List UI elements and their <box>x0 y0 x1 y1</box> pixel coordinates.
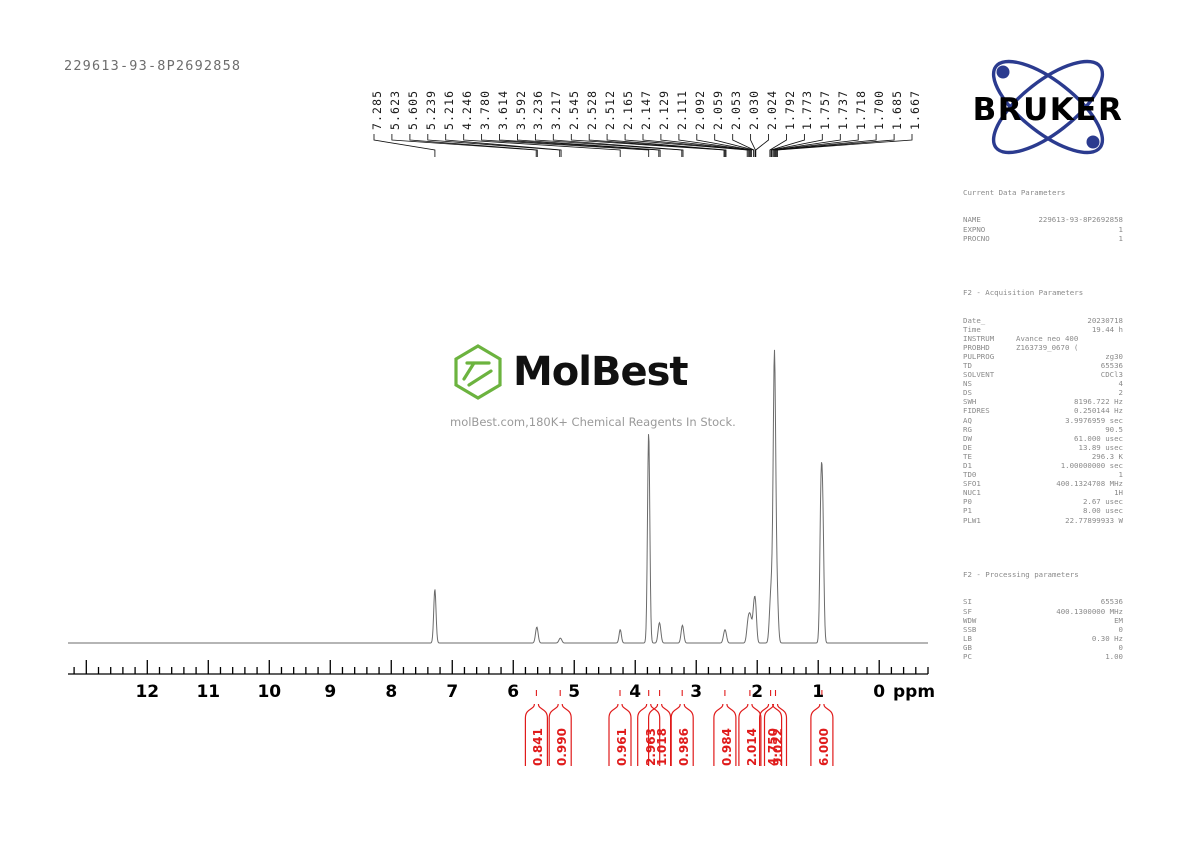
param-value: 0 <box>1119 643 1123 652</box>
param-value: 4 <box>1119 379 1123 388</box>
integral-value-label: 6.000 <box>817 728 831 766</box>
param-key: TE <box>963 452 972 461</box>
param-section-title-current: Current Data Parameters <box>963 188 1123 197</box>
param-row: Time19.44 h <box>963 325 1123 334</box>
param-value: 2 <box>1119 388 1123 397</box>
param-key: WDW <box>963 616 976 625</box>
param-row: PLW122.77899933 W <box>963 516 1123 525</box>
integral-value-label: 0.990 <box>555 728 569 766</box>
param-key: NS <box>963 379 972 388</box>
peak-label-strip: 7.2855.6235.6055.2395.2164.2463.7803.614… <box>0 0 1190 180</box>
param-value: 400.1300000 MHz <box>1056 607 1123 616</box>
param-key: PROCNO <box>963 234 990 243</box>
param-key: D1 <box>963 461 972 470</box>
peak-label: 2.528 <box>585 90 599 130</box>
peak-label: 1.685 <box>890 90 904 130</box>
param-row: GB0 <box>963 643 1123 652</box>
param-key: NUC1 <box>963 488 981 497</box>
peak-label: 5.239 <box>424 90 438 130</box>
param-value: 1 <box>1119 470 1123 479</box>
param-value: zg30 <box>1105 352 1123 361</box>
axis-tick-label: 0 <box>873 682 885 702</box>
param-row: SF400.1300000 MHz <box>963 607 1123 616</box>
axis-tick-label: 6 <box>507 682 519 702</box>
param-value: EM <box>1114 616 1123 625</box>
param-value: 1 <box>1119 234 1123 243</box>
integral-value-label: 0.961 <box>615 728 629 766</box>
axis-tick-label: 10 <box>257 682 281 702</box>
axis-tick-label: 11 <box>196 682 220 702</box>
param-value: 3.9976959 sec <box>1065 416 1123 425</box>
peak-label: 1.773 <box>800 90 814 130</box>
peak-label: 3.780 <box>478 90 492 130</box>
axis-ruler <box>0 660 1190 680</box>
param-value: 8196.722 Hz <box>1074 397 1123 406</box>
param-row: SI65536 <box>963 597 1123 606</box>
param-list-acquisition: Date_20230718Time19.44 hINSTRUMAvance ne… <box>963 316 1123 525</box>
param-key: P0 <box>963 497 972 506</box>
param-row: TD01 <box>963 470 1123 479</box>
param-row: Date_20230718 <box>963 316 1123 325</box>
peak-label: 2.024 <box>765 90 779 130</box>
peak-label: 2.545 <box>567 90 581 130</box>
param-value: 0 <box>1119 625 1123 634</box>
param-row: AQ3.9976959 sec <box>963 416 1123 425</box>
integral-value-label: 2.014 <box>745 728 759 766</box>
param-row: P02.67 usec <box>963 497 1123 506</box>
peak-label: 2.165 <box>621 90 635 130</box>
param-key: EXPNO <box>963 225 985 234</box>
peak-label: 2.059 <box>711 90 725 130</box>
param-key: SF <box>963 607 972 616</box>
axis-tick-label: 1 <box>812 682 824 702</box>
param-key: TD <box>963 361 972 370</box>
integral-value-label: 9.022 <box>771 728 785 766</box>
param-row: SOLVENTCDCl3 <box>963 370 1123 379</box>
param-value: 22.77899933 W <box>1065 516 1123 525</box>
param-key: SSB <box>963 625 976 634</box>
param-row: WDWEM <box>963 616 1123 625</box>
param-key: LB <box>963 634 972 643</box>
peak-label: 1.667 <box>908 90 922 130</box>
axis-tick-label: 5 <box>568 682 580 702</box>
axis-tick-label: 2 <box>751 682 763 702</box>
peak-label: 2.147 <box>639 90 653 130</box>
peak-label: 1.757 <box>818 90 832 130</box>
param-value: Avance neo 400 <box>1016 334 1078 343</box>
peak-label: 2.111 <box>675 90 689 130</box>
param-row: SFO1400.1324708 MHz <box>963 479 1123 488</box>
param-key: SOLVENT <box>963 370 994 379</box>
axis-tick-label: 7 <box>446 682 458 702</box>
param-row: TE296.3 K <box>963 452 1123 461</box>
param-row: DW61.000 usec <box>963 434 1123 443</box>
param-value: 1H <box>1114 488 1123 497</box>
param-value: 8.00 usec <box>1083 506 1123 515</box>
axis-tick-label: 8 <box>385 682 397 702</box>
nmr-report-page: 229613-93-8P2692858 BRUKER Current Data … <box>0 0 1190 842</box>
param-section-title-processing: F2 - Processing parameters <box>963 570 1123 579</box>
axis-tick-label: 9 <box>324 682 336 702</box>
peak-label: 5.216 <box>442 90 456 130</box>
peak-label: 1.718 <box>854 90 868 130</box>
axis-tick-label: 4 <box>629 682 641 702</box>
param-section-title-acquisition: F2 - Acquisition Parameters <box>963 288 1123 297</box>
param-key: Time <box>963 325 981 334</box>
param-list-current: NAME229613-93-8P2692858EXPNO1PROCNO1 <box>963 215 1123 242</box>
param-key: P1 <box>963 506 972 515</box>
peak-label: 4.246 <box>460 90 474 130</box>
param-row: FIDRES0.250144 Hz <box>963 406 1123 415</box>
param-row: PROCNO1 <box>963 234 1123 243</box>
integral-value-label: 0.984 <box>720 728 734 766</box>
peak-label: 3.614 <box>496 90 510 130</box>
param-row: SWH8196.722 Hz <box>963 397 1123 406</box>
param-key: PLW1 <box>963 516 981 525</box>
param-key: FIDRES <box>963 406 990 415</box>
param-value: 0.30 Hz <box>1092 634 1123 643</box>
param-value: 65536 <box>1101 361 1123 370</box>
param-row: DS2 <box>963 388 1123 397</box>
param-key: PULPROG <box>963 352 994 361</box>
param-value: Z163739_0670 ( <box>1016 343 1078 352</box>
param-value: 229613-93-8P2692858 <box>1038 215 1123 224</box>
param-value: 90.5 <box>1105 425 1123 434</box>
watermark-wordmark: MolBest <box>513 352 688 392</box>
peak-label: 1.700 <box>872 90 886 130</box>
param-key: DE <box>963 443 972 452</box>
peak-label: 2.092 <box>693 90 707 130</box>
axis-tick-label: 12 <box>135 682 159 702</box>
param-row: SSB0 <box>963 625 1123 634</box>
param-key: Date_ <box>963 316 985 325</box>
param-value: 400.1324708 MHz <box>1056 479 1123 488</box>
param-row: RG90.5 <box>963 425 1123 434</box>
integral-value-label: 1.018 <box>655 728 669 766</box>
param-value: 65536 <box>1101 597 1123 606</box>
peak-label: 5.623 <box>388 90 402 130</box>
param-row: PULPROGzg30 <box>963 352 1123 361</box>
param-row: INSTRUMAvance neo 400 <box>963 334 1123 343</box>
param-key: RG <box>963 425 972 434</box>
integral-values: 0.8410.9900.9612.9631.0180.9860.9842.014… <box>0 700 1190 810</box>
param-value: 2.67 usec <box>1083 497 1123 506</box>
param-key: TD0 <box>963 470 976 479</box>
peak-label: 7.285 <box>370 90 384 130</box>
param-key: SFO1 <box>963 479 981 488</box>
integral-value-label: 0.986 <box>677 728 691 766</box>
param-key: DW <box>963 434 972 443</box>
param-value: CDCl3 <box>1101 370 1123 379</box>
hexagon-icon <box>447 341 509 403</box>
peak-label: 2.053 <box>729 90 743 130</box>
watermark-tagline: molBest.com,180K+ Chemical Reagents In S… <box>450 415 736 429</box>
peak-label: 1.737 <box>836 90 850 130</box>
param-key: GB <box>963 643 972 652</box>
param-value: 20230718 <box>1087 316 1123 325</box>
param-key: PROBHD <box>963 343 990 352</box>
peak-label: 2.512 <box>603 90 617 130</box>
param-value: 296.3 K <box>1092 452 1123 461</box>
param-row: D11.00000000 sec <box>963 461 1123 470</box>
param-value: 61.000 usec <box>1074 434 1123 443</box>
molbest-watermark: MolBest molBest.com,180K+ Chemical Reage… <box>447 341 747 431</box>
param-value: 13.89 usec <box>1079 443 1124 452</box>
param-row: TD65536 <box>963 361 1123 370</box>
param-row: NUC11H <box>963 488 1123 497</box>
param-key: DS <box>963 388 972 397</box>
param-row: EXPNO1 <box>963 225 1123 234</box>
axis-tick-label: 3 <box>690 682 702 702</box>
param-key: INSTRUM <box>963 334 994 343</box>
peak-label: 2.129 <box>657 90 671 130</box>
param-row: NS4 <box>963 379 1123 388</box>
param-row: DE13.89 usec <box>963 443 1123 452</box>
peak-label: 3.217 <box>549 90 563 130</box>
param-row: LB0.30 Hz <box>963 634 1123 643</box>
peak-label: 2.030 <box>747 90 761 130</box>
peak-label: 1.792 <box>783 90 797 130</box>
param-key: AQ <box>963 416 972 425</box>
peak-label: 5.605 <box>406 90 420 130</box>
peak-label: 3.592 <box>514 90 528 130</box>
integral-value-label: 0.841 <box>531 728 545 766</box>
param-key: SWH <box>963 397 976 406</box>
axis-unit-label: ppm <box>893 682 935 702</box>
peak-label: 3.236 <box>531 90 545 130</box>
param-value: 0.250144 Hz <box>1074 406 1123 415</box>
param-row: PROBHDZ163739_0670 ( <box>963 343 1123 352</box>
param-list-processing: SI65536SF400.1300000 MHzWDWEMSSB0LB0.30 … <box>963 597 1123 661</box>
param-value: 19.44 h <box>1092 325 1123 334</box>
param-key: NAME <box>963 215 981 224</box>
param-value: 1.00000000 sec <box>1061 461 1123 470</box>
param-value: 1 <box>1119 225 1123 234</box>
param-row: NAME229613-93-8P2692858 <box>963 215 1123 224</box>
acquisition-parameters-panel: Current Data Parameters NAME229613-93-8P… <box>963 170 1123 679</box>
param-key: SI <box>963 597 972 606</box>
param-row: P18.00 usec <box>963 506 1123 515</box>
watermark-mark: MolBest <box>447 341 688 403</box>
